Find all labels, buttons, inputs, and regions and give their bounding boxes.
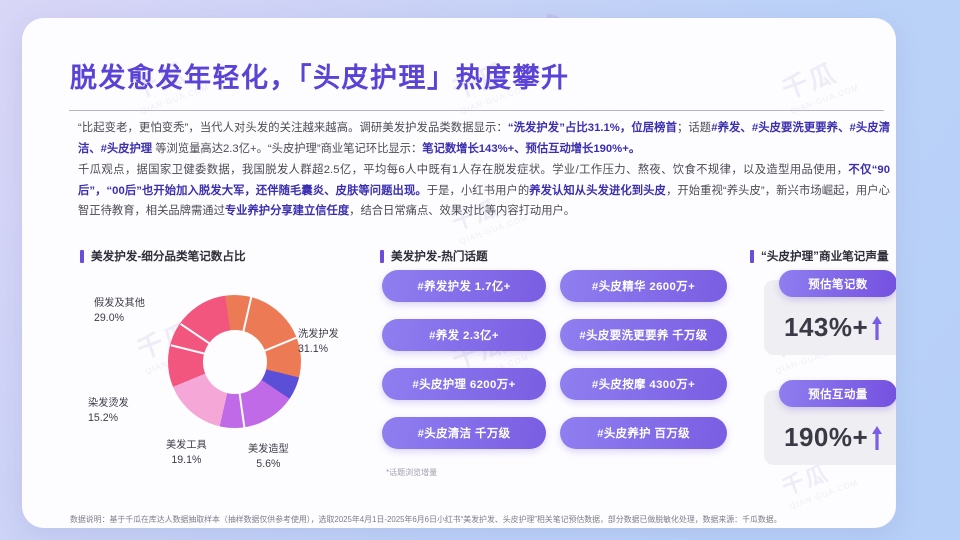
donut-label-4: 假发及其他 29.0% [94,296,145,326]
voice-value-notes: 143%+ [784,312,883,343]
voice-pill-interactions: 预估互动量 [779,380,896,407]
donut-label-2: 美发工具 19.1% [166,438,207,468]
topic-tag[interactable]: #头皮精华 2600万+ [560,270,727,302]
voice-value-text: 143%+ [784,312,868,343]
page-title: 脱发愈发年轻化，「头皮护理」热度攀升 [70,56,570,95]
donut-panel-title: 美发护发-细分品类笔记数占比 [91,248,246,264]
intro-p2-a: 千瓜观点，据国家卫健委数据，我国脱发人群超2.5亿，平均每6人中既有1人存在脱发… [78,164,848,176]
intro-text: “比起变老，更怕变秃”，当代人对头发的关注越来越高。调研美发护发品类数据显示：“… [78,118,890,223]
slide-canvas: 千瓜QIAN-GUA.COM 千瓜QIAN-GUA.COM 千瓜QIAN-GUA… [0,0,960,540]
donut-label-name: 染发烫发 [88,396,129,411]
footer-note: 数据说明：基于千瓜在库达人数据抽取样本（抽样数据仅供参考使用），选取2025年4… [70,514,888,526]
voice-panel-header: “头皮护理”商业笔记声量 （环比） [750,248,896,264]
arrow-up-icon [871,315,883,341]
topic-tag[interactable]: #头皮护理 6200万+ [382,368,546,400]
accent-bar-icon [750,250,754,263]
voice-value-interactions: 190%+ [784,422,883,453]
intro-paragraph-2: 千瓜观点，据国家卫健委数据，我国脱发人群超2.5亿，平均每6人中既有1人存在脱发… [78,160,890,222]
donut-label-0: 洗发护发 31.1% [298,327,339,357]
content-card: 千瓜QIAN-GUA.COM 千瓜QIAN-GUA.COM 千瓜QIAN-GUA… [22,18,896,528]
donut-label-value: 29.0% [94,311,145,326]
topic-tag[interactable]: #头皮养护 百万级 [560,417,727,449]
donut-label-name: 美发工具 [166,438,207,453]
donut-label-value: 31.1% [298,342,339,357]
voice-value-text: 190%+ [784,422,868,453]
intro-p2-highlight-3: 专业养护分享建立信任度 [225,205,349,217]
intro-p2-b: 于是，小红书用户的 [427,185,530,197]
voice-pill-notes: 预估笔记数 [779,270,896,297]
donut-label-value: 19.1% [166,453,207,468]
topic-tag[interactable]: #养发 2.3亿+ [382,319,546,351]
accent-bar-icon [380,250,384,263]
donut-label-name: 假发及其他 [94,296,145,311]
topic-panel-header: 美发护发-热门话题 [380,248,488,264]
donut-ring [168,295,301,428]
accent-bar-icon [80,250,84,263]
intro-p1-b: ；话题 [677,122,711,134]
donut-panel-header: 美发护发-细分品类笔记数占比 [80,248,246,264]
donut-label-name: 洗发护发 [298,327,339,342]
donut-label-name: 美发造型 [248,442,289,457]
topic-tag-list: #养发护发 1.7亿+ #头皮精华 2600万+ #养发 2.3亿+ #头皮要洗… [382,270,727,465]
intro-p2-highlight-2: 养发认知从头发进化到头皮 [529,185,666,197]
donut-slice-separator [235,336,298,363]
arrow-up-icon [871,425,883,451]
intro-p1-c: 等浏览量高达2.3亿+。“头皮护理”商业笔记环比显示： [152,143,422,155]
intro-p1-highlight-1: “洗发护发”占比31.1%，位居榜首 [508,122,677,134]
topic-tag[interactable]: #头皮要洗更要养 千万级 [560,319,727,351]
donut-label-value: 15.2% [88,411,129,426]
donut-label-3: 染发烫发 15.2% [88,396,129,426]
donut-label-value: 5.6% [248,457,289,472]
donut-slice-separator [170,344,235,362]
topic-tag[interactable]: #头皮按摩 4300万+ [560,368,727,400]
intro-paragraph-1: “比起变老，更怕变秃”，当代人对头发的关注越来越高。调研美发护发品类数据显示：“… [78,118,890,159]
topic-footnote: *话题浏览增量 [386,467,437,478]
donut-chart: 洗发护发 31.1% 美发造型 5.6% 美发工具 19.1% 染发烫发 15.… [82,270,362,485]
topic-tag[interactable]: #养发护发 1.7亿+ [382,270,546,302]
donut-slice-separator [180,323,236,362]
topic-tag[interactable]: #头皮清洁 千万级 [382,417,546,449]
donut-label-1: 美发造型 5.6% [248,442,289,472]
topic-panel-title: 美发护发-热门话题 [391,248,488,264]
voice-panel-title: “头皮护理”商业笔记声量 [761,248,889,264]
watermark: 千瓜QIAN-GUA.COM [776,47,860,116]
intro-p2-d: ，结合日常痛点、效果对比等内容打动用户。 [349,205,575,217]
title-divider [69,110,884,111]
intro-p1-a: “比起变老，更怕变秃”，当代人对头发的关注越来越高。调研美发护发品类数据显示： [78,122,508,134]
intro-p1-highlight-3: 笔记数增长143%+、预估互动增长190%+。 [422,143,640,155]
donut-slice-separator [235,296,251,362]
donut-slice-separator [234,362,245,429]
